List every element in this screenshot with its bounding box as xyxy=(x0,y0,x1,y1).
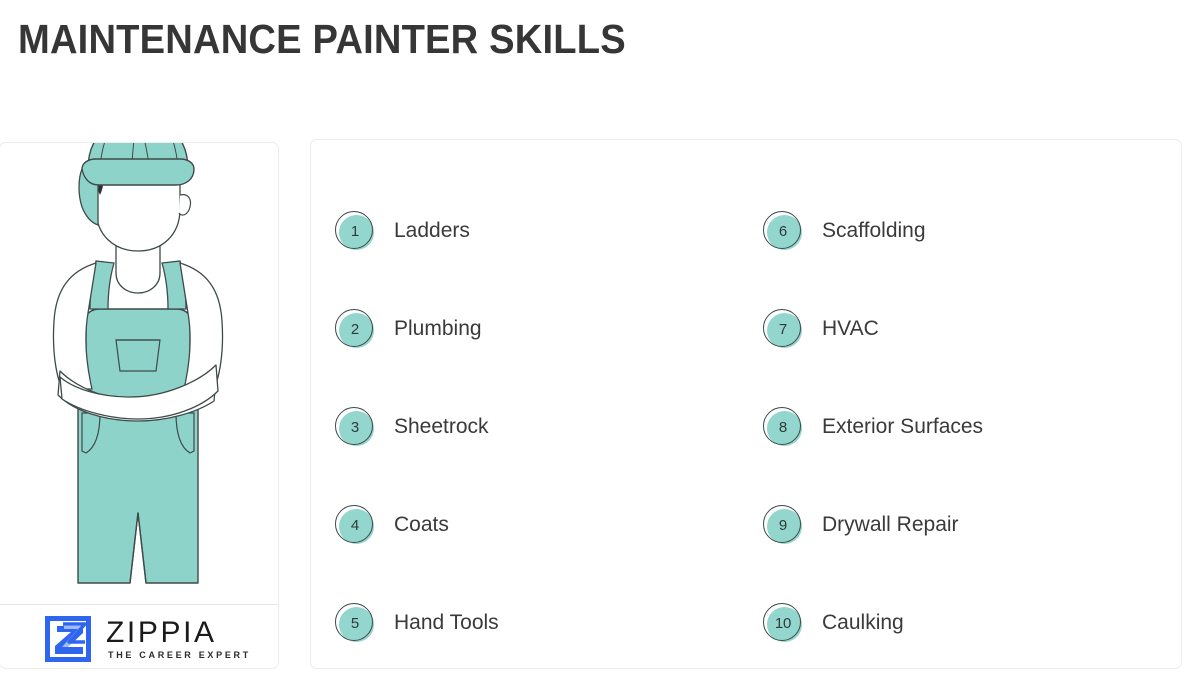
skill-number-badge: 3 xyxy=(335,407,375,447)
skill-label: Caulking xyxy=(822,610,904,636)
skill-number-badge: 8 xyxy=(763,407,803,447)
zippia-wordmark: ZIPPIA xyxy=(106,617,251,648)
skill-item[interactable]: 5 Hand Tools xyxy=(335,574,765,672)
badge-number: 3 xyxy=(335,407,375,447)
badge-number: 2 xyxy=(335,309,375,349)
skill-item[interactable]: 1 Ladders xyxy=(335,182,765,280)
painter-illustration xyxy=(0,143,278,605)
page-title: MAINTENANCE PAINTER SKILLS xyxy=(18,16,626,62)
illustration-stage xyxy=(0,143,278,605)
badge-number: 6 xyxy=(763,211,803,251)
skill-label: Exterior Surfaces xyxy=(822,414,983,440)
zippia-logo-text: ZIPPIA THE CAREER EXPERT xyxy=(106,617,251,662)
skill-label: Ladders xyxy=(394,218,470,244)
skill-item[interactable]: 7 HVAC xyxy=(763,280,1193,378)
skill-number-badge: 10 xyxy=(763,603,803,643)
skill-label: HVAC xyxy=(822,316,879,342)
badge-number: 7 xyxy=(763,309,803,349)
skill-label: Sheetrock xyxy=(394,414,489,440)
skill-item[interactable]: 4 Coats xyxy=(335,476,765,574)
skills-grid: 1 Ladders 2 Plumbing 3 xyxy=(311,140,1181,668)
skills-column-left: 1 Ladders 2 Plumbing 3 xyxy=(335,182,765,672)
skill-item[interactable]: 6 Scaffolding xyxy=(763,182,1193,280)
skill-label: Scaffolding xyxy=(822,218,926,244)
skill-item[interactable]: 3 Sheetrock xyxy=(335,378,765,476)
skills-card: 1 Ladders 2 Plumbing 3 xyxy=(310,139,1182,669)
skill-number-badge: 1 xyxy=(335,211,375,251)
skill-number-badge: 4 xyxy=(335,505,375,545)
infographic-page: MAINTENANCE PAINTER SKILLS xyxy=(0,0,1200,675)
skill-item[interactable]: 2 Plumbing xyxy=(335,280,765,378)
illustration-card: ZIPPIA THE CAREER EXPERT xyxy=(0,142,279,669)
badge-number: 9 xyxy=(763,505,803,545)
skill-label: Drywall Repair xyxy=(822,512,959,538)
illustration-divider xyxy=(0,604,278,605)
skill-number-badge: 5 xyxy=(335,603,375,643)
zippia-logo[interactable]: ZIPPIA THE CAREER EXPERT xyxy=(44,615,251,663)
badge-number: 4 xyxy=(335,505,375,545)
skill-number-badge: 2 xyxy=(335,309,375,349)
skill-label: Plumbing xyxy=(394,316,482,342)
skill-item[interactable]: 9 Drywall Repair xyxy=(763,476,1193,574)
badge-number: 10 xyxy=(763,603,803,643)
zippia-tagline: THE CAREER EXPERT xyxy=(108,649,251,662)
skills-column-right: 6 Scaffolding 7 HVAC 8 xyxy=(763,182,1193,672)
zippia-z-logo-icon xyxy=(44,615,92,663)
badge-number: 1 xyxy=(335,211,375,251)
badge-number: 5 xyxy=(335,603,375,643)
skill-item[interactable]: 10 Caulking xyxy=(763,574,1193,672)
skill-item[interactable]: 8 Exterior Surfaces xyxy=(763,378,1193,476)
badge-number: 8 xyxy=(763,407,803,447)
skill-number-badge: 6 xyxy=(763,211,803,251)
skill-number-badge: 7 xyxy=(763,309,803,349)
skill-number-badge: 9 xyxy=(763,505,803,545)
skill-label: Coats xyxy=(394,512,449,538)
skill-label: Hand Tools xyxy=(394,610,499,636)
